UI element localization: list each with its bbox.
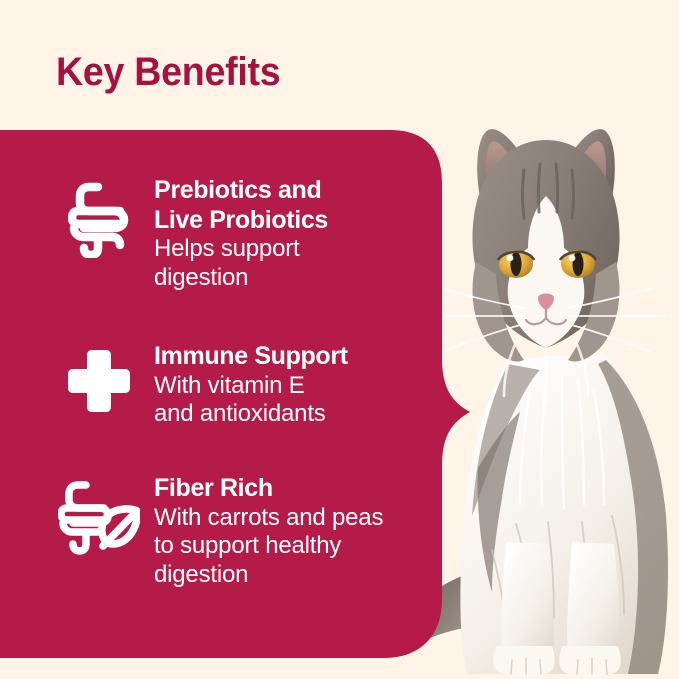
cat-eye-highlight-left [507, 255, 514, 262]
plus-icon [66, 348, 132, 414]
benefit-item-prebiotics: Prebiotics and Live Probiotics Helps sup… [56, 176, 328, 293]
cat-paw-right [559, 646, 621, 677]
promo-graphic: Key Benefits Prebiotics and Live Probiot… [0, 0, 679, 679]
page-title: Key Benefits [56, 50, 280, 95]
benefit-text-block: Prebiotics and Live Probiotics Helps sup… [142, 176, 328, 293]
benefit-title: Fiber Rich [154, 474, 383, 504]
intestine-leaf-icon [58, 480, 140, 558]
benefit-title: Prebiotics and Live Probiotics [154, 176, 328, 235]
cat-paw-left [493, 646, 555, 677]
benefit-icon-slot [56, 474, 142, 558]
intestine-icon [68, 182, 130, 258]
benefit-icon-slot [56, 176, 142, 258]
benefit-item-fiber-rich: Fiber Rich With carrots and peas to supp… [56, 474, 383, 590]
benefit-item-immune-support: Immune Support With vitamin E and antiox… [56, 342, 348, 429]
benefit-icon-slot [56, 342, 142, 414]
benefit-text-block: Immune Support With vitamin E and antiox… [142, 342, 348, 429]
benefit-description: Helps support digestion [154, 235, 328, 293]
benefit-text-block: Fiber Rich With carrots and peas to supp… [142, 474, 383, 590]
benefit-title: Immune Support [154, 342, 348, 372]
cat-eye-highlight-right [569, 255, 576, 262]
benefit-description: With vitamin E and antioxidants [154, 372, 348, 430]
benefit-description: With carrots and peas to support healthy… [154, 504, 383, 590]
